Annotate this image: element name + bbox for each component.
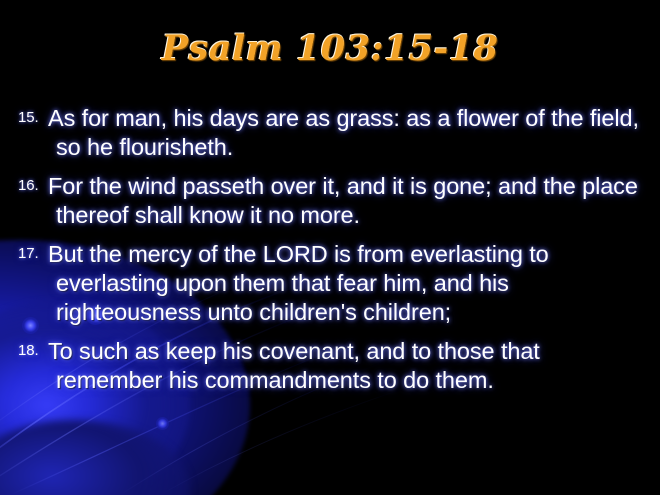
verse-number: 15.	[18, 109, 39, 126]
verse-list: 15. As for man, his days are as grass: a…	[18, 104, 650, 395]
verse-text: As for man, his days are as grass: as a …	[48, 104, 650, 162]
verse-item: 16. For the wind passeth over it, and it…	[18, 172, 650, 230]
verse-item: 17. But the mercy of the LORD is from ev…	[18, 240, 650, 327]
scripture-slide: Psalm 103:15-18 15. As for man, his days…	[0, 0, 660, 495]
verse-number: 17.	[18, 245, 39, 262]
verse-text: To such as keep his covenant, and to tho…	[48, 337, 650, 395]
spark-dot-icon	[156, 417, 169, 430]
verse-number: 16.	[18, 177, 39, 194]
slide-title: Psalm 103:15-18	[162, 28, 499, 69]
verse-item: 15. As for man, his days are as grass: a…	[18, 104, 650, 162]
verse-text: For the wind passeth over it, and it is …	[48, 172, 650, 230]
blue-glow-tail	[0, 420, 190, 495]
title-area: Psalm 103:15-18	[0, 28, 660, 69]
verse-text: But the mercy of the LORD is from everla…	[48, 240, 650, 327]
verse-number: 18.	[18, 342, 39, 359]
verse-item: 18. To such as keep his covenant, and to…	[18, 337, 650, 395]
